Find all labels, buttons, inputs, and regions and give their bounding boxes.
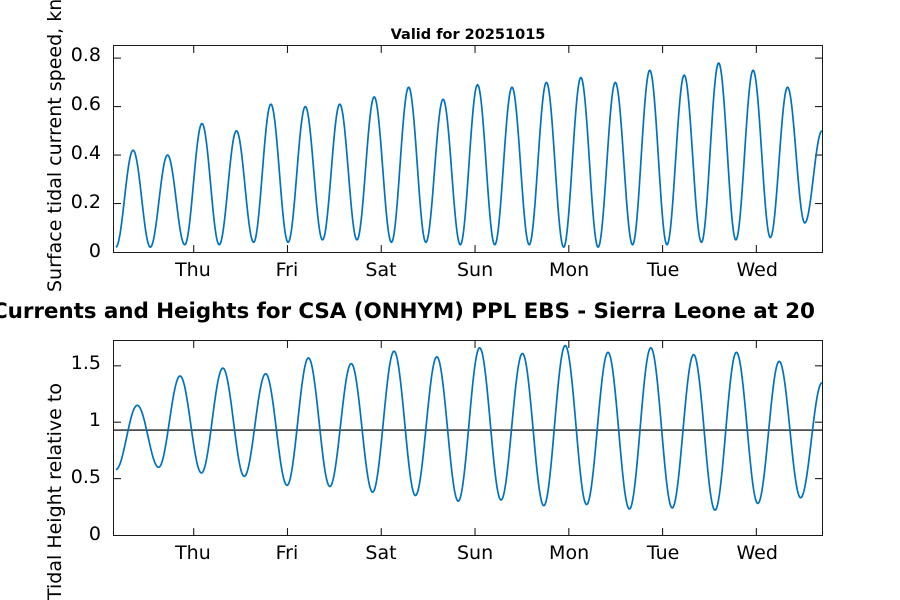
x-tick-label: Sun [425, 259, 525, 281]
y-tick-label: 0.4 [1, 142, 101, 164]
x-tick-label: Mon [519, 259, 619, 281]
y-tick-label: 0.2 [1, 191, 101, 213]
y-tick-label: 1.5 [1, 352, 101, 374]
y-tick-label: 0 [1, 240, 101, 262]
x-tick-label: Wed [707, 259, 807, 281]
y-tick-label: 0.5 [1, 466, 101, 488]
x-tick-label: Fri [237, 259, 337, 281]
top-subplot-title: Valid for 20251015 [113, 27, 823, 43]
figure-title: Currents and Heights for CSA (ONHYM) PPL… [0, 299, 900, 324]
y-tick-label: 0.8 [1, 44, 101, 66]
x-tick-label: Tue [613, 259, 713, 281]
x-tick-label: Tue [613, 542, 713, 564]
x-tick-label: Fri [237, 542, 337, 564]
current-speed-line-chart [114, 46, 822, 252]
tidal-height-line-chart [114, 341, 822, 535]
y-tick-label: 1 [1, 409, 101, 431]
x-tick-label: Sat [331, 542, 431, 564]
x-tick-label: Mon [519, 542, 619, 564]
x-tick-label: Thu [143, 259, 243, 281]
y-tick-label: 0 [1, 523, 101, 545]
x-tick-label: Thu [143, 542, 243, 564]
top-plot-axes [113, 45, 823, 253]
y-tick-label: 0.6 [1, 93, 101, 115]
figure-canvas: Valid for 20251015 Surface tidal current… [0, 0, 900, 600]
x-tick-label: Sat [331, 259, 431, 281]
bottom-plot-axes [113, 340, 823, 536]
x-tick-label: Wed [707, 542, 807, 564]
x-tick-label: Sun [425, 542, 525, 564]
